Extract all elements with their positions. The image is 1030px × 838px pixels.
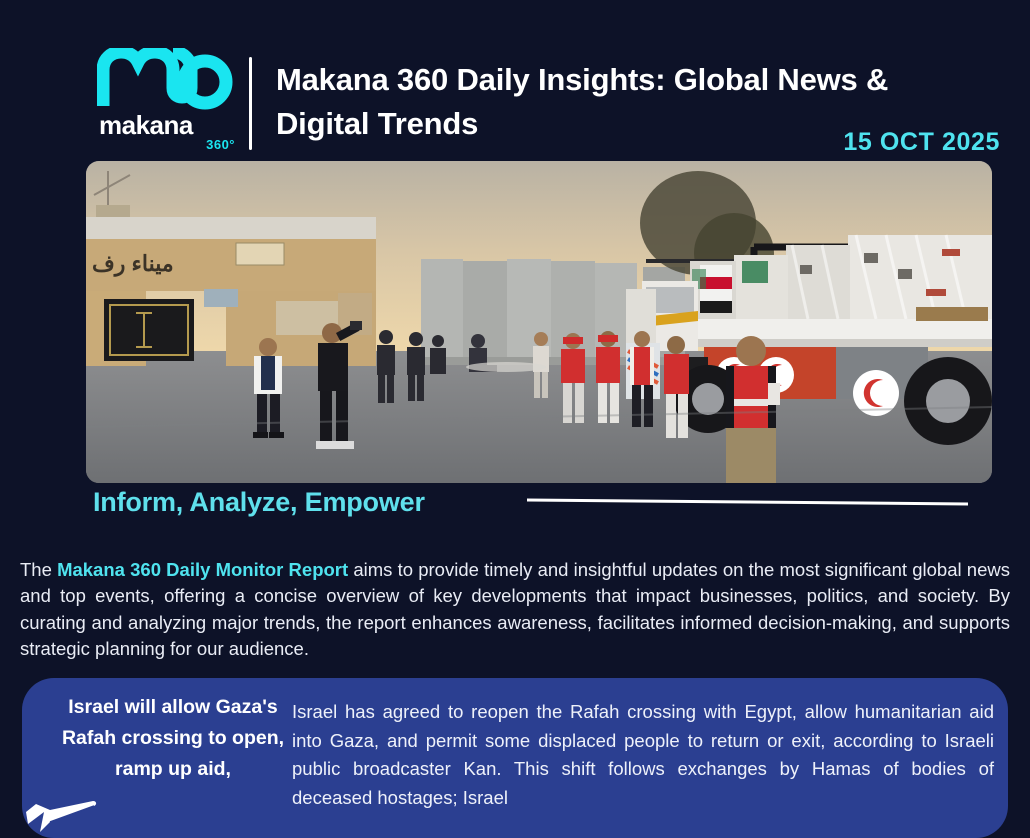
paper-plane-icon	[24, 790, 100, 836]
news-body: Israel has agreed to reopen the Rafah cr…	[292, 698, 994, 812]
report-header: makana 360° Makana 360 Daily Insights: G…	[0, 0, 1030, 158]
news-headline: Israel will allow Gaza's Rafah crossing …	[54, 692, 292, 785]
hero-photo-illustration: ميناء رف	[86, 161, 992, 483]
hero-photo: ميناء رف	[86, 161, 992, 483]
svg-text:ميناء رف: ميناء رف	[92, 251, 174, 277]
intro-highlight: Makana 360 Daily Monitor Report	[57, 559, 348, 580]
logo-monogram-mo-icon	[97, 48, 237, 110]
header-divider	[249, 57, 252, 150]
intro-before: The	[20, 559, 57, 580]
logo-360-suffix: 360°	[97, 138, 237, 152]
tagline: Inform, Analyze, Empower	[93, 487, 425, 518]
tagline-rule	[527, 497, 968, 507]
news-card[interactable]: Israel will allow Gaza's Rafah crossing …	[22, 678, 1008, 838]
logo-wordmark-makana: makana	[97, 112, 237, 138]
svg-text:makana: makana	[99, 112, 194, 138]
intro-paragraph: The Makana 360 Daily Monitor Report aims…	[20, 557, 1010, 663]
makana-logo[interactable]: makana 360°	[97, 48, 237, 153]
report-date: 15 OCT 2025	[843, 128, 1000, 157]
